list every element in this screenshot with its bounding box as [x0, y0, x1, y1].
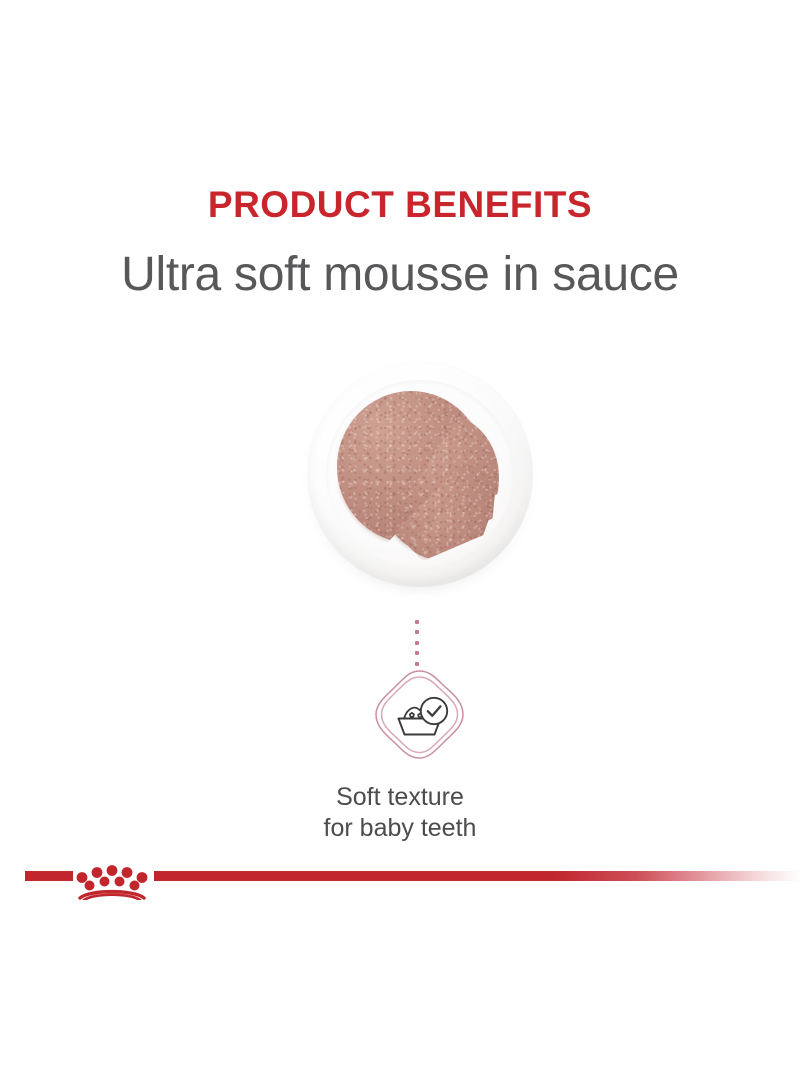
benefit-caption: Soft texture for baby teeth [0, 782, 800, 844]
bowl-with-check-icon [373, 668, 466, 761]
footer-rule-left [25, 871, 73, 881]
crown-arc [80, 892, 144, 900]
benefit-caption-line-2: for baby teeth [0, 813, 800, 844]
crown-bottom-dots [85, 877, 140, 891]
royal-canin-crown-logo [74, 860, 150, 900]
benefit-caption-line-1: Soft texture [336, 783, 464, 811]
connector-dot [415, 620, 419, 624]
check-badge [421, 698, 447, 724]
product-photo [303, 355, 537, 599]
footer-rule-right [154, 871, 800, 881]
footer-brand-bar [0, 866, 800, 918]
plate-rim [307, 361, 533, 587]
connector-dot [415, 630, 419, 634]
connector-dot [415, 641, 419, 645]
dotted-connector [415, 620, 423, 666]
crown-top-dots [77, 865, 148, 883]
mousse-food [335, 387, 507, 559]
product-benefits-panel: PRODUCT BENEFITS Ultra soft mousse in sa… [0, 0, 800, 1091]
section-eyebrow: PRODUCT BENEFITS [0, 186, 800, 223]
connector-dot [415, 651, 419, 655]
connector-dot [415, 662, 419, 666]
page-title: Ultra soft mousse in sauce [0, 250, 800, 300]
